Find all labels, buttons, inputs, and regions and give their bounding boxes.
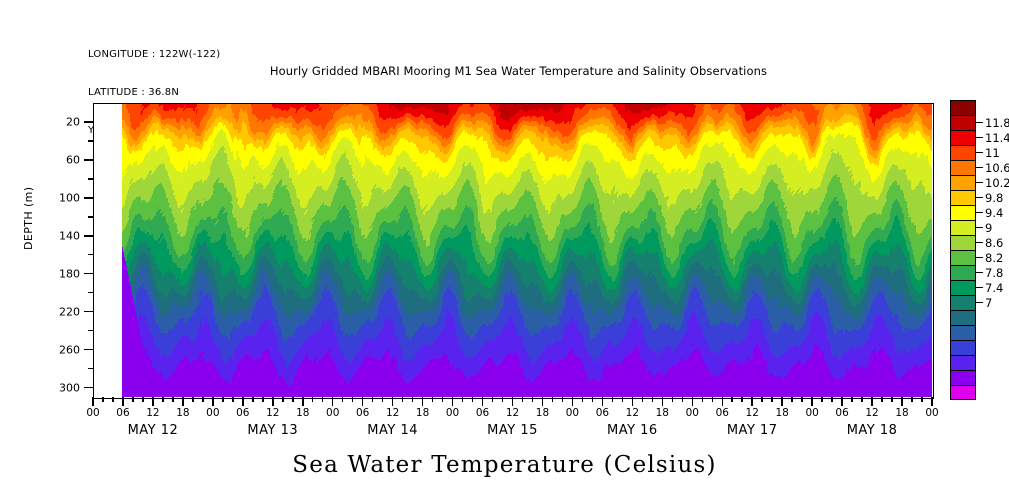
time-tick-minor bbox=[921, 397, 923, 402]
time-hour-label: 12 bbox=[746, 407, 759, 419]
time-tick-major bbox=[512, 397, 514, 406]
time-hour-label: 18 bbox=[656, 407, 669, 419]
time-tick-major bbox=[362, 397, 364, 406]
colorbar-tick bbox=[976, 212, 983, 213]
time-hour-label: 18 bbox=[296, 407, 309, 419]
depth-tick-label: 20 bbox=[0, 115, 80, 128]
time-day-label: MAY 17 bbox=[727, 423, 778, 438]
time-tick-major bbox=[692, 397, 694, 406]
time-tick-minor bbox=[322, 397, 324, 402]
time-tick-minor bbox=[412, 397, 414, 402]
time-tick-major bbox=[302, 397, 304, 406]
colorbar-label: 11.4 bbox=[985, 131, 1009, 145]
depth-axis-label: DEPTH (m) bbox=[22, 187, 35, 250]
longitude-text: LONGITUDE : 122W(-122) bbox=[88, 49, 220, 62]
time-tick-minor bbox=[532, 397, 534, 402]
time-tick-minor bbox=[652, 397, 654, 402]
time-tick-major bbox=[751, 397, 753, 406]
time-tick-major bbox=[931, 397, 933, 406]
colorbar-label: 9.8 bbox=[985, 191, 1003, 205]
time-tick-minor bbox=[192, 397, 194, 402]
time-tick-minor bbox=[352, 397, 354, 402]
time-day-label: MAY 18 bbox=[847, 423, 898, 438]
colorbar-tick bbox=[976, 302, 983, 303]
depth-tick-major bbox=[84, 159, 93, 161]
time-tick-major bbox=[572, 397, 574, 406]
time-hour-label: 06 bbox=[476, 407, 489, 419]
colorbar-tick bbox=[976, 137, 983, 138]
colorbar-separator bbox=[950, 355, 976, 356]
colorbar-tick bbox=[976, 227, 983, 228]
depth-tick-label: 220 bbox=[0, 305, 80, 318]
time-tick-major bbox=[662, 397, 664, 406]
time-tick-minor bbox=[612, 397, 614, 402]
time-tick-minor bbox=[442, 397, 444, 402]
time-tick-minor bbox=[712, 397, 714, 402]
time-tick-major bbox=[602, 397, 604, 406]
time-tick-major bbox=[332, 397, 334, 406]
colorbar-separator bbox=[950, 340, 976, 341]
time-tick-major bbox=[452, 397, 454, 406]
time-day-label: MAY 12 bbox=[128, 423, 179, 438]
depth-tick-label: 60 bbox=[0, 153, 80, 166]
colorbar-label: 10.2 bbox=[985, 176, 1009, 190]
colorbar-tick bbox=[976, 167, 983, 168]
time-tick-minor bbox=[252, 397, 254, 402]
time-hour-label: 12 bbox=[266, 407, 279, 419]
time-tick-major bbox=[632, 397, 634, 406]
colorbar-separator bbox=[950, 280, 976, 281]
time-tick-minor bbox=[741, 397, 743, 402]
time-hour-label: 18 bbox=[416, 407, 429, 419]
time-hour-label: 06 bbox=[236, 407, 249, 419]
colorbar-separator bbox=[950, 310, 976, 311]
time-hour-label: 06 bbox=[835, 407, 848, 419]
time-tick-minor bbox=[432, 397, 434, 402]
colorbar-separator bbox=[950, 295, 976, 296]
time-tick-major bbox=[542, 397, 544, 406]
time-tick-major bbox=[242, 397, 244, 406]
time-tick-minor bbox=[672, 397, 674, 402]
time-tick-minor bbox=[472, 397, 474, 402]
time-hour-label-end: 00 bbox=[925, 407, 938, 419]
figure-root: LONGITUDE : 122W(-122) LATITUDE : 36.8N … bbox=[0, 0, 1009, 504]
depth-tick-major bbox=[84, 197, 93, 199]
depth-tick-minor bbox=[88, 140, 93, 142]
time-hour-label: 00 bbox=[206, 407, 219, 419]
colorbar-separator bbox=[950, 205, 976, 206]
plot-title-text: Hourly Gridded MBARI Mooring M1 Sea Wate… bbox=[270, 64, 767, 78]
depth-tick-major bbox=[84, 273, 93, 275]
time-hour-label: 18 bbox=[176, 407, 189, 419]
time-tick-minor bbox=[592, 397, 594, 402]
depth-tick-minor bbox=[88, 216, 93, 218]
time-tick-minor bbox=[262, 397, 264, 402]
colorbar-separator bbox=[950, 160, 976, 161]
time-tick-major bbox=[722, 397, 724, 406]
time-tick-minor bbox=[162, 397, 164, 402]
time-tick-minor bbox=[642, 397, 644, 402]
time-hour-label: 00 bbox=[86, 407, 99, 419]
time-hour-label: 12 bbox=[865, 407, 878, 419]
time-tick-minor bbox=[562, 397, 564, 402]
colorbar-separator bbox=[950, 115, 976, 116]
colorbar-separator bbox=[950, 190, 976, 191]
depth-tick-major bbox=[84, 311, 93, 313]
time-tick-major bbox=[871, 397, 873, 406]
time-tick-minor bbox=[761, 397, 763, 402]
time-tick-minor bbox=[142, 397, 144, 402]
time-day-label: MAY 16 bbox=[607, 423, 658, 438]
time-hour-label: 00 bbox=[446, 407, 459, 419]
time-tick-minor bbox=[502, 397, 504, 402]
colorbar-separator bbox=[950, 145, 976, 146]
time-hour-label: 18 bbox=[536, 407, 549, 419]
time-tick-minor bbox=[891, 397, 893, 402]
time-tick-minor bbox=[831, 397, 833, 402]
colorbar-label: 8.6 bbox=[985, 236, 1003, 250]
depth-tick-minor bbox=[88, 368, 93, 370]
time-hour-label: 00 bbox=[326, 407, 339, 419]
time-tick-minor bbox=[622, 397, 624, 402]
time-hour-label: 06 bbox=[596, 407, 609, 419]
time-hour-label: 06 bbox=[716, 407, 729, 419]
time-tick-minor bbox=[911, 397, 913, 402]
time-tick-minor bbox=[312, 397, 314, 402]
time-tick-minor bbox=[861, 397, 863, 402]
colorbar-label: 7.8 bbox=[985, 266, 1003, 280]
time-day-label: MAY 15 bbox=[487, 423, 538, 438]
time-tick-major bbox=[781, 397, 783, 406]
time-tick-minor bbox=[172, 397, 174, 402]
time-tick-minor bbox=[731, 397, 733, 402]
time-tick-major bbox=[811, 397, 813, 406]
time-hour-label: 18 bbox=[895, 407, 908, 419]
time-tick-major bbox=[182, 397, 184, 406]
time-tick-minor bbox=[222, 397, 224, 402]
colorbar-separator bbox=[950, 265, 976, 266]
time-tick-minor bbox=[342, 397, 344, 402]
time-tick-minor bbox=[821, 397, 823, 402]
temperature-contour-field bbox=[93, 103, 932, 397]
colorbar-label: 10.6 bbox=[985, 161, 1009, 175]
time-tick-minor bbox=[202, 397, 204, 402]
time-tick-minor bbox=[112, 397, 114, 402]
time-hour-label: 12 bbox=[506, 407, 519, 419]
time-tick-minor bbox=[372, 397, 374, 402]
time-hour-label: 12 bbox=[146, 407, 159, 419]
time-hour-label: 18 bbox=[775, 407, 788, 419]
time-tick-major bbox=[122, 397, 124, 406]
colorbar-label: 7.4 bbox=[985, 281, 1003, 295]
colorbar-label: 11 bbox=[985, 146, 1000, 160]
time-hour-label: 00 bbox=[686, 407, 699, 419]
time-tick-major bbox=[92, 397, 94, 406]
depth-tick-minor bbox=[88, 292, 93, 294]
figure-caption: Sea Water Temperature (Celsius) bbox=[0, 452, 1009, 478]
time-tick-major bbox=[152, 397, 154, 406]
depth-tick-minor bbox=[88, 178, 93, 180]
time-tick-minor bbox=[851, 397, 853, 402]
page-title: Hourly Gridded MBARI Mooring M1 Sea Wate… bbox=[0, 64, 1009, 78]
colorbar-label: 7 bbox=[985, 296, 992, 310]
colorbar-tick bbox=[976, 257, 983, 258]
time-hour-label: 06 bbox=[356, 407, 369, 419]
depth-tick-major bbox=[84, 235, 93, 237]
colorbar-tick bbox=[976, 272, 983, 273]
time-hour-label: 12 bbox=[626, 407, 639, 419]
depth-tick-label: 180 bbox=[0, 267, 80, 280]
colorbar-tick bbox=[976, 122, 983, 123]
colorbar-label: 9.4 bbox=[985, 206, 1003, 220]
time-hour-label: 06 bbox=[116, 407, 129, 419]
depth-tick-label: 260 bbox=[0, 343, 80, 356]
colorbar-separator bbox=[950, 385, 976, 386]
depth-tick-label: 100 bbox=[0, 191, 80, 204]
time-hour-label: 00 bbox=[566, 407, 579, 419]
time-tick-minor bbox=[881, 397, 883, 402]
time-tick-minor bbox=[682, 397, 684, 402]
colorbar-separator bbox=[950, 175, 976, 176]
time-tick-major bbox=[272, 397, 274, 406]
colorbar-separator bbox=[950, 250, 976, 251]
depth-tick-minor bbox=[88, 330, 93, 332]
time-tick-minor bbox=[791, 397, 793, 402]
colorbar-separator bbox=[950, 130, 976, 131]
time-tick-minor bbox=[282, 397, 284, 402]
time-tick-major bbox=[422, 397, 424, 406]
time-tick-minor bbox=[552, 397, 554, 402]
time-tick-minor bbox=[801, 397, 803, 402]
time-tick-major bbox=[212, 397, 214, 406]
time-hour-label: 00 bbox=[805, 407, 818, 419]
colorbar-tick bbox=[976, 242, 983, 243]
colorbar-tick bbox=[976, 182, 983, 183]
depth-tick-label: 140 bbox=[0, 229, 80, 242]
time-tick-minor bbox=[582, 397, 584, 402]
time-tick-minor bbox=[102, 397, 104, 402]
depth-tick-label: 300 bbox=[0, 381, 80, 394]
depth-tick-major bbox=[84, 121, 93, 123]
time-tick-major bbox=[482, 397, 484, 406]
colorbar-separator bbox=[950, 235, 976, 236]
time-tick-minor bbox=[492, 397, 494, 402]
colorbar-label: 8.2 bbox=[985, 251, 1003, 265]
time-tick-minor bbox=[771, 397, 773, 402]
time-tick-minor bbox=[462, 397, 464, 402]
time-tick-minor bbox=[522, 397, 524, 402]
time-day-label: MAY 13 bbox=[247, 423, 298, 438]
time-tick-major bbox=[841, 397, 843, 406]
time-tick-major bbox=[392, 397, 394, 406]
time-tick-minor bbox=[132, 397, 134, 402]
colorbar-separator bbox=[950, 370, 976, 371]
colorbar-label: 9 bbox=[985, 221, 992, 235]
depth-tick-major bbox=[84, 387, 93, 389]
time-tick-minor bbox=[292, 397, 294, 402]
colorbar-label: 11.8 bbox=[985, 116, 1009, 130]
time-tick-minor bbox=[382, 397, 384, 402]
colorbar-tick bbox=[976, 197, 983, 198]
depth-tick-major bbox=[84, 349, 93, 351]
time-tick-minor bbox=[402, 397, 404, 402]
time-day-label: MAY 14 bbox=[367, 423, 418, 438]
time-tick-minor bbox=[232, 397, 234, 402]
depth-tick-minor bbox=[88, 254, 93, 256]
colorbar-separator bbox=[950, 325, 976, 326]
time-tick-major bbox=[901, 397, 903, 406]
colorbar-tick bbox=[976, 287, 983, 288]
colorbar-separator bbox=[950, 220, 976, 221]
time-tick-minor bbox=[702, 397, 704, 402]
time-hour-label: 12 bbox=[386, 407, 399, 419]
latitude-text: LATITUDE : 36.8N bbox=[88, 87, 220, 100]
colorbar-tick bbox=[976, 152, 983, 153]
